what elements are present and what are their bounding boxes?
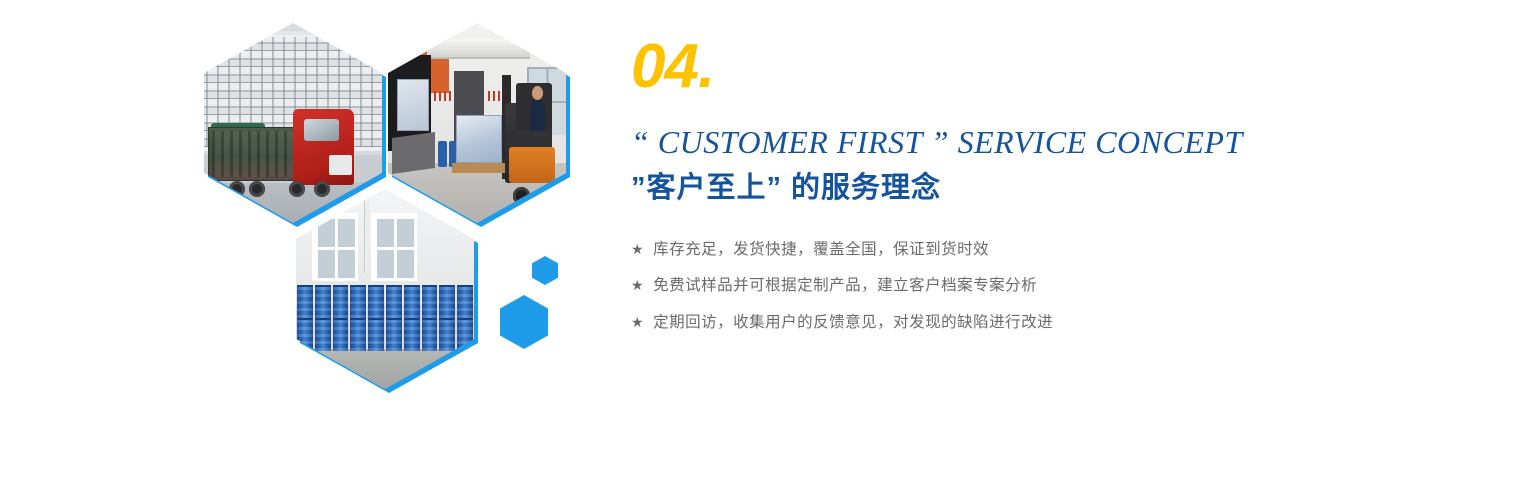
banner-text-content: 04. “ CUSTOMER FIRST ” SERVICE CONCEPT ”… [631, 36, 1351, 351]
star-icon: ★ [631, 278, 644, 292]
list-item: ★ 库存充足，发货快捷，覆盖全国，保证到货时效 [631, 242, 1351, 258]
list-item: ★ 定期回访，收集用户的反馈意见，对发现的缺陷进行改进 [631, 315, 1351, 331]
service-concept-banner: 04. “ CUSTOMER FIRST ” SERVICE CONCEPT ”… [0, 0, 1525, 477]
list-item-label: 定期回访，收集用户的反馈意见，对发现的缺陷进行改进 [653, 315, 1053, 331]
headline-chinese: ”客户至上” 的服务理念 [631, 168, 1351, 209]
list-item: ★ 免费试样品并可根据定制产品，建立客户档案专案分析 [631, 278, 1351, 294]
section-number: 04. [631, 36, 1351, 98]
list-item-label: 库存充足，发货快捷，覆盖全国，保证到货时效 [653, 242, 989, 258]
star-icon: ★ [631, 242, 644, 256]
star-icon: ★ [631, 315, 644, 329]
headline-english: “ CUSTOMER FIRST ” SERVICE CONCEPT [631, 122, 1351, 162]
feature-bullet-list: ★ 库存充足，发货快捷，覆盖全国，保证到货时效 ★ 免费试样品并可根据定制产品，… [631, 242, 1351, 331]
list-item-label: 免费试样品并可根据定制产品，建立客户档案专案分析 [653, 278, 1037, 294]
